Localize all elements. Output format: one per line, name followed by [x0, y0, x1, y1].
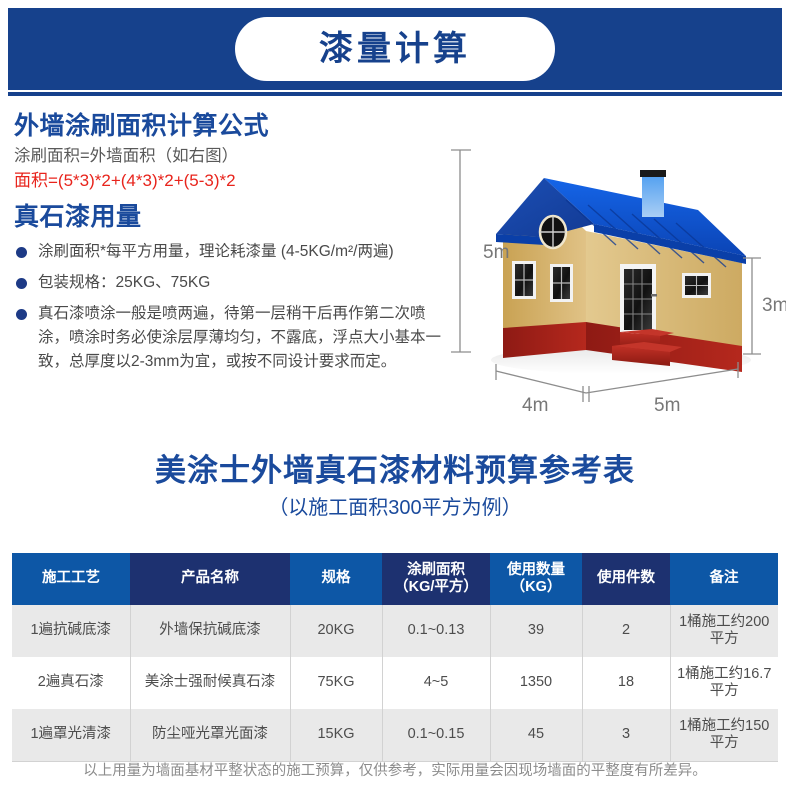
header-line-1: 施工工艺	[14, 570, 128, 587]
cell-pieces: 3	[582, 709, 670, 762]
column-header-amount: 使用数量 （KG）	[490, 553, 582, 605]
page-title: 漆量计算	[319, 32, 471, 66]
cell-amount: 1350	[490, 657, 582, 709]
cell-amount: 45	[490, 709, 582, 762]
header-line-1: 产品名称	[132, 570, 288, 587]
cell-remark: 1桶施工约16.7平方	[670, 657, 778, 709]
column-header-process: 施工工艺	[12, 553, 130, 605]
table-row: 1遍罩光清漆 防尘哑光罩光面漆 15KG 0.1~0.15 45 3 1桶施工约…	[12, 709, 778, 762]
chimney	[642, 173, 664, 217]
bullet-dot-icon	[16, 247, 27, 258]
cell-amount: 39	[490, 605, 582, 657]
cell-pieces: 18	[582, 657, 670, 709]
front-door	[620, 264, 657, 334]
cell-coverage: 4~5	[382, 657, 490, 709]
budget-table: 施工工艺 产品名称 规格 涂刷面积 （KG/平方） 使用数量 （KG） 使用件数	[12, 553, 778, 762]
column-header-remark: 备注	[670, 553, 778, 605]
header-line-2: （KG）	[492, 579, 580, 596]
banner-title-pill: 漆量计算	[235, 17, 555, 81]
bullet-text: 包装规格：25KG、75KG	[38, 274, 210, 291]
dimension-height-right	[743, 258, 761, 354]
page-banner: 漆量计算	[8, 8, 782, 90]
usage-section-heading: 真石漆用量	[14, 203, 454, 232]
table-header-row: 施工工艺 产品名称 规格 涂刷面积 （KG/平方） 使用数量 （KG） 使用件数	[12, 553, 778, 605]
door-handle	[651, 294, 657, 297]
bullet-dot-icon	[16, 278, 27, 289]
header-line-1: 使用件数	[584, 570, 668, 587]
bullet-dot-icon	[16, 309, 27, 320]
dimension-label-width-side: 5m	[654, 395, 680, 416]
chimney-cap	[640, 170, 666, 177]
cell-product: 防尘哑光罩光面漆	[130, 709, 290, 762]
list-item: 真石漆喷涂一般是喷两遍，待第一层稍干后再作第二次喷涂，喷涂时务必使涂层厚薄均匀，…	[14, 302, 454, 374]
formula-section-heading: 外墙涂刷面积计算公式	[14, 112, 454, 141]
house-illustration: 5m 3m 4m 5m	[446, 128, 786, 428]
list-item: 包装规格：25KG、75KG	[14, 271, 454, 295]
list-item: 涂刷面积*每平方用量，理论耗漆量 (4-5KG/m²/两遍)	[14, 240, 454, 264]
footer-note: 以上用量为墙面基材平整状态的施工预算，仅供参考，实际用量会因现场墙面的平整度有所…	[0, 762, 790, 781]
banner-underline	[8, 92, 782, 96]
table-title-block: 美涂士外墙真石漆材料预算参考表 （以施工面积300平方为例）	[0, 452, 790, 521]
table-subtitle: （以施工面积300平方为例）	[0, 495, 790, 521]
budget-table-wrapper: 施工工艺 产品名称 规格 涂刷面积 （KG/平方） 使用数量 （KG） 使用件数	[12, 553, 778, 762]
table-title: 美涂士外墙真石漆材料预算参考表	[0, 452, 790, 489]
cell-spec: 20KG	[290, 605, 382, 657]
column-header-product: 产品名称	[130, 553, 290, 605]
dimension-label-width-front: 4m	[522, 395, 548, 416]
usage-bullet-list: 涂刷面积*每平方用量，理论耗漆量 (4-5KG/m²/两遍) 包装规格：25KG…	[14, 240, 454, 374]
cell-pieces: 2	[582, 605, 670, 657]
cell-remark: 1桶施工约200平方	[670, 605, 778, 657]
cell-process: 1遍抗碱底漆	[12, 605, 130, 657]
window-left-2	[550, 264, 573, 302]
window-right-1	[682, 273, 711, 298]
cell-coverage: 0.1~0.13	[382, 605, 490, 657]
dimension-height-left	[451, 150, 471, 352]
cell-product: 外墙保抗碱底漆	[130, 605, 290, 657]
dimension-label-height-left: 5m	[483, 242, 509, 263]
formula-sub-line: 涂刷面积=外墙面积（如右图）	[14, 145, 454, 169]
header-line-1: 涂刷面积	[384, 562, 488, 579]
table-row: 1遍抗碱底漆 外墙保抗碱底漆 20KG 0.1~0.13 39 2 1桶施工约2…	[12, 605, 778, 657]
cell-process: 2遍真石漆	[12, 657, 130, 709]
cell-spec: 15KG	[290, 709, 382, 762]
left-info-column: 外墙涂刷面积计算公式 涂刷面积=外墙面积（如右图） 面积=(5*3)*2+(4*…	[14, 112, 454, 381]
column-header-coverage: 涂刷面积 （KG/平方）	[382, 553, 490, 605]
header-line-1: 使用数量	[492, 562, 580, 579]
bullet-text: 涂刷面积*每平方用量，理论耗漆量 (4-5KG/m²/两遍)	[38, 243, 394, 260]
table-row: 2遍真石漆 美涂士强耐候真石漆 75KG 4~5 1350 18 1桶施工约16…	[12, 657, 778, 709]
bullet-text: 真石漆喷涂一般是喷两遍，待第一层稍干后再作第二次喷涂，喷涂时务必使涂层厚薄均匀，…	[38, 305, 441, 370]
cell-spec: 75KG	[290, 657, 382, 709]
column-header-spec: 规格	[290, 553, 382, 605]
dimension-label-height-right: 3m	[762, 295, 786, 316]
header-line-2: （KG/平方）	[384, 579, 488, 596]
cell-coverage: 0.1~0.15	[382, 709, 490, 762]
header-line-1: 备注	[672, 570, 776, 587]
header-line-1: 规格	[292, 570, 380, 587]
formula-expression: 面积=(5*3)*2+(4*3)*2+(5-3)*2	[14, 169, 454, 194]
cell-remark: 1桶施工约150平方	[670, 709, 778, 762]
column-header-pieces: 使用件数	[582, 553, 670, 605]
window-left-1	[512, 261, 536, 299]
cell-process: 1遍罩光清漆	[12, 709, 130, 762]
cell-product: 美涂士强耐候真石漆	[130, 657, 290, 709]
